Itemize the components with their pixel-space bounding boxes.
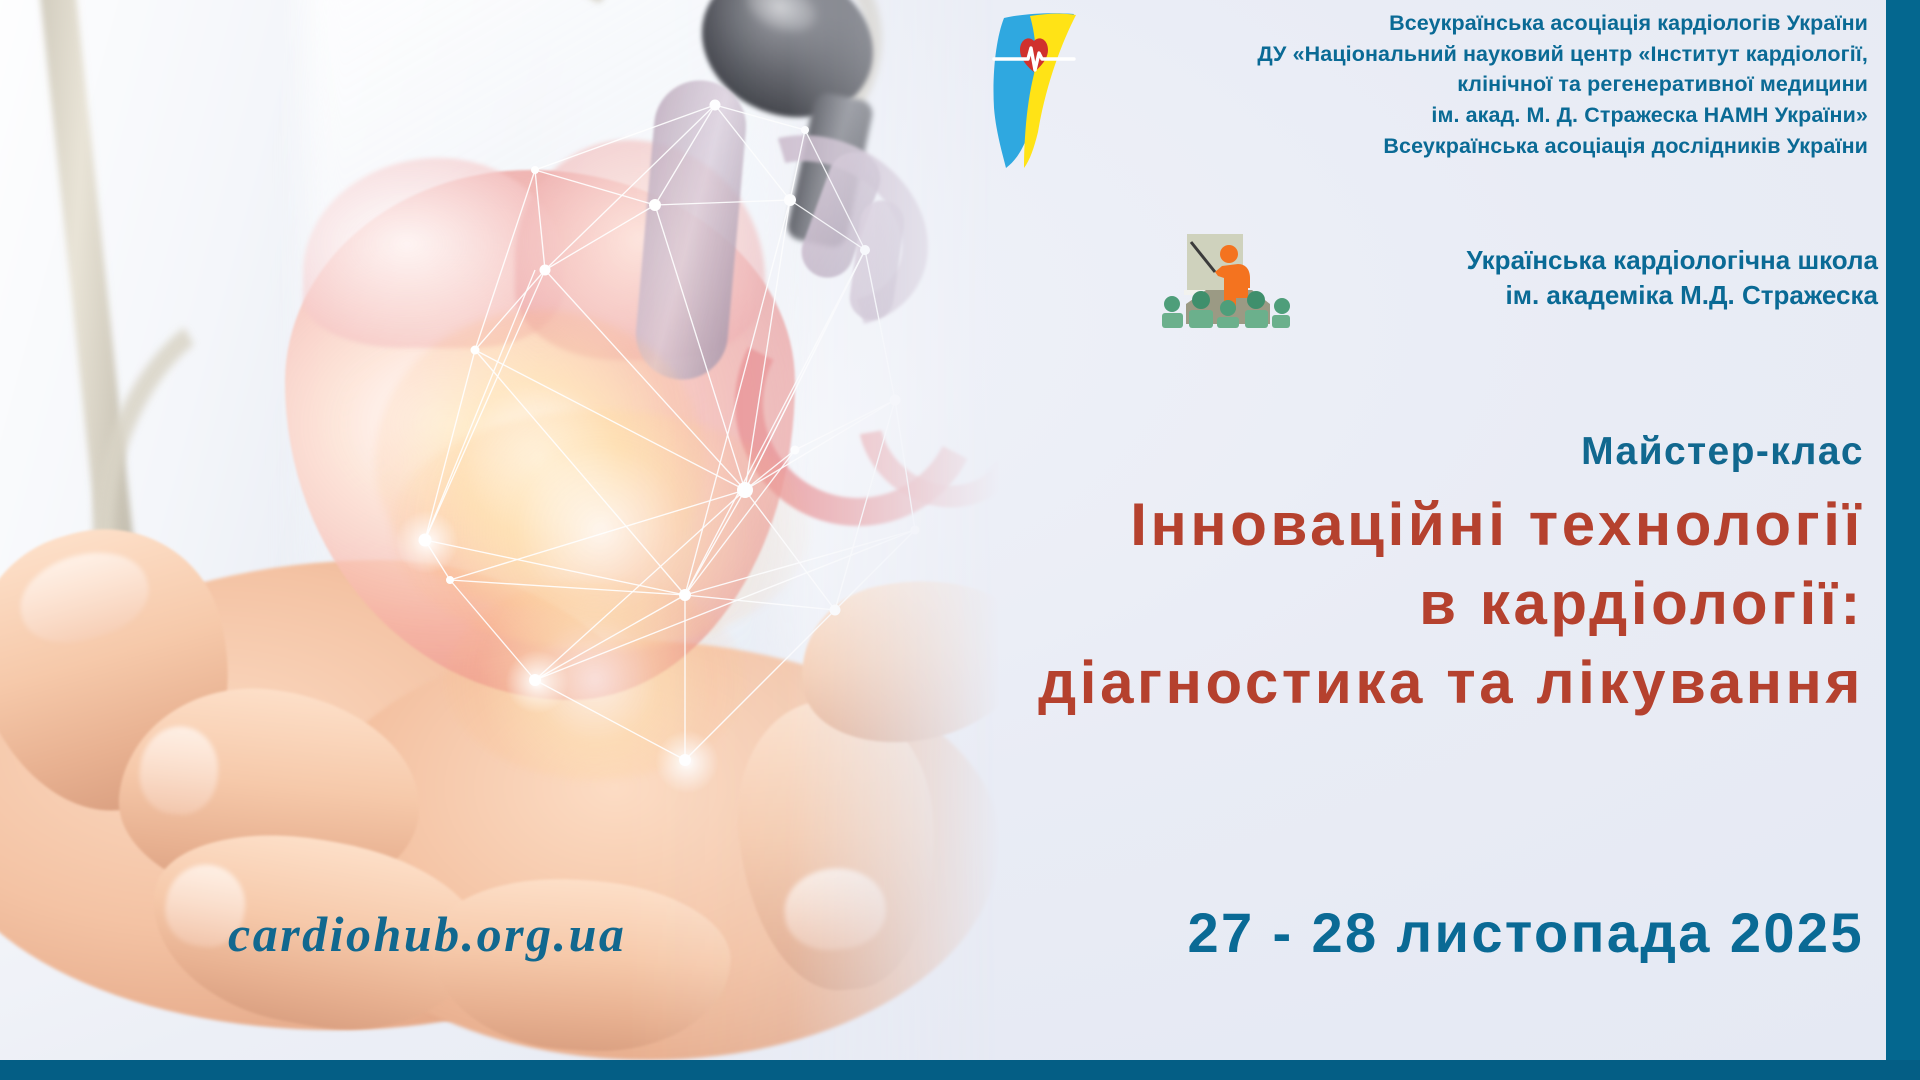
school-line-1: Українська кардіологічна школа — [1290, 243, 1878, 278]
event-date: 27 - 28 листопада 2025 — [1187, 900, 1864, 965]
cardiology-school-block: Українська кардіологічна школа ім. акаде… — [1160, 228, 1900, 328]
lecturer-with-audience-icon — [1160, 228, 1290, 328]
event-title: Інноваційні технології в кардіології: ді… — [684, 485, 1864, 723]
organization-line-1: Всеукраїнська асоціація кардіологів Укра… — [1078, 8, 1868, 39]
event-kicker: Майстер-клас — [1581, 430, 1864, 474]
ukraine-flag-heart-ecg-logo — [990, 12, 1078, 172]
poster-canvas: Всеукраїнська асоціація кардіологів Укра… — [0, 0, 1920, 1080]
event-title-line-1: Інноваційні технології — [684, 485, 1864, 564]
organizations-header: Всеукраїнська асоціація кардіологів Укра… — [990, 8, 1890, 172]
fingernail — [10, 539, 158, 656]
organization-line-5: Всеукраїнська асоціація дослідників Укра… — [1078, 131, 1868, 162]
bottom-accent-bar — [0, 1060, 1920, 1080]
right-accent-bar — [1886, 0, 1920, 1062]
school-name: Українська кардіологічна школа ім. акаде… — [1290, 243, 1900, 313]
organization-line-4: ім. акад. М. Д. Стражеска НАМН України» — [1078, 100, 1868, 131]
school-line-2: ім. академіка М.Д. Стражеска — [1290, 278, 1878, 313]
network-node-sparkle — [655, 730, 719, 794]
network-node-sparkle — [395, 510, 459, 574]
website-url[interactable]: cardiohub.org.ua — [228, 905, 626, 963]
organization-line-3: клінічної та регенеративної медицини — [1078, 69, 1868, 100]
fingernail — [136, 723, 223, 819]
organization-line-2: ДУ «Національний науковий центр «Інститу… — [1078, 39, 1868, 70]
fingernail — [781, 864, 889, 954]
event-title-line-2: в кардіології: — [684, 564, 1864, 643]
organizations-list: Всеукраїнська асоціація кардіологів Укра… — [1078, 8, 1890, 162]
event-title-line-3: діагностика та лікування — [684, 643, 1864, 722]
network-node-sparkle — [505, 650, 569, 714]
